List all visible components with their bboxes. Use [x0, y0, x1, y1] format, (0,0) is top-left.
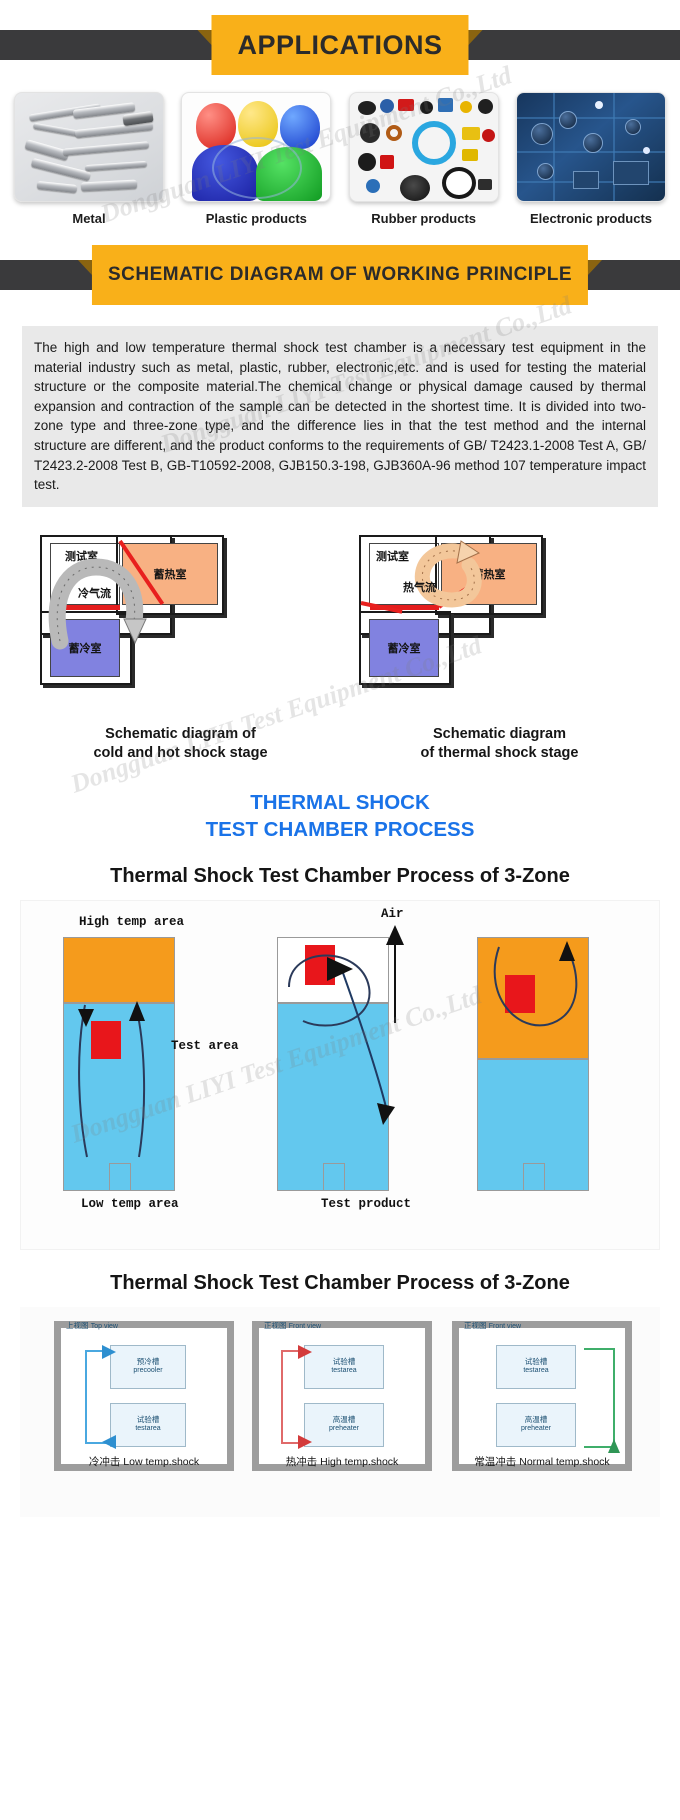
description-block: The high and low temperature thermal sho…: [22, 326, 658, 507]
mini-view-en-1: Top view: [91, 1323, 118, 1330]
schematic-ribbon: SCHEMATIC DIAGRAM OF WORKING PRINCIPLE: [92, 245, 588, 305]
application-card-rubber[interactable]: Rubber products: [349, 92, 499, 226]
high-temp-label: High temp area: [79, 915, 184, 929]
airflow-arrows-3: [471, 929, 601, 1089]
applications-title: APPLICATIONS: [237, 30, 442, 61]
process-heading-bottom: Thermal Shock Test Chamber Process of 3-…: [0, 1272, 680, 1295]
schematic-banner: SCHEMATIC DIAGRAM OF WORKING PRINCIPLE: [0, 242, 680, 308]
thermal-shock-diagram: 测试室 蓄热室 蓄冷室 热气流: [353, 529, 646, 719]
application-label: Rubber products: [349, 202, 499, 226]
application-label: Electronic products: [516, 202, 666, 226]
application-card-metal[interactable]: Metal: [14, 92, 164, 226]
circuit-board-image: [516, 92, 666, 202]
schematic-caption-right: Schematic diagram of thermal shock stage: [353, 725, 646, 763]
mini-diagram-high-temp-shock: 正视图 Front view 试验槽 testarea 高温槽 preheate…: [252, 1321, 432, 1471]
schematic-caption-left: Schematic diagram of cold and hot shock …: [34, 725, 327, 763]
mini-diagram-low-temp-shock: 上视图 Top view 预冷槽 precooler 试验槽 testarea …: [54, 1321, 234, 1471]
test-product-label: Test product: [321, 1197, 411, 1211]
mini-caption-3: 常温冲击 Normal temp.shock: [452, 1454, 632, 1469]
mini-arrow-1: [72, 1339, 132, 1459]
mini-arrow-3: [570, 1335, 640, 1465]
airflow-arrows-1: [61, 997, 181, 1197]
schematic-figure-thermal: 测试室 蓄热室 蓄冷室 热气流: [353, 529, 646, 763]
applications-ribbon: APPLICATIONS: [211, 15, 468, 75]
cold-airflow-arrow-left: [42, 545, 162, 675]
test-area-label: Test area: [171, 1039, 239, 1053]
mini-diagram-normal-temp-shock: 正视图 Front view 试验槽 testarea 高温槽 preheate…: [452, 1321, 632, 1471]
application-label: Metal: [14, 202, 164, 226]
mini-caption-1: 冷冲击 Low temp.shock: [54, 1454, 234, 1469]
low-temp-label: Low temp area: [81, 1197, 179, 1211]
mini-view-cn-2: 正视图: [264, 1321, 287, 1330]
product-detail-page: APPLICATIONS Metal: [0, 0, 680, 1537]
applications-grid: Metal Plastic products: [0, 78, 680, 226]
airflow-label-left: 冷气流: [78, 585, 111, 601]
mini-view-en-2: Front view: [289, 1323, 321, 1330]
mini-arrow-2: [268, 1339, 328, 1459]
mini-view-cn-3: 正视图: [464, 1321, 487, 1330]
high-temp-area-1: [63, 937, 175, 1003]
application-card-plastic[interactable]: Plastic products: [181, 92, 331, 226]
air-label: Air: [381, 907, 404, 921]
plastic-pellets-image: [181, 92, 331, 202]
cold-hot-shock-diagram: 测试室 蓄热室 蓄冷室 冷气流: [34, 529, 327, 719]
process-heading-top: Thermal Shock Test Chamber Process of 3-…: [0, 865, 680, 888]
schematic-figures: 测试室 蓄热室 蓄冷室 冷气流 Sc: [0, 529, 680, 763]
rubber-parts-image: [349, 92, 499, 202]
mini-caption-2: 热冲击 High temp.shock: [252, 1454, 432, 1469]
mini-view-cn-1: 上视图: [66, 1321, 89, 1330]
three-zone-mini-diagrams: 上视图 Top view 预冷槽 precooler 试验槽 testarea …: [20, 1307, 660, 1517]
application-card-electronic[interactable]: Electronic products: [516, 92, 666, 226]
process-title: THERMAL SHOCK TEST CHAMBER PROCESS: [0, 789, 680, 843]
metal-rods-image: [14, 92, 164, 202]
airflow-label-right: 热气流: [403, 579, 436, 595]
air-arrow: [381, 919, 441, 1029]
schematic-figure-cold-hot: 测试室 蓄热室 蓄冷室 冷气流 Sc: [34, 529, 327, 763]
schematic-title: SCHEMATIC DIAGRAM OF WORKING PRINCIPLE: [108, 264, 572, 286]
three-zone-process-diagram: High temp area Low temp area Test area T…: [20, 900, 660, 1250]
mini-view-en-3: Front view: [489, 1323, 521, 1330]
mini-room-bottom-3: 高温槽 preheater: [496, 1403, 576, 1447]
application-label: Plastic products: [181, 202, 331, 226]
applications-banner: APPLICATIONS: [0, 12, 680, 78]
description-paragraph: The high and low temperature thermal sho…: [34, 338, 646, 495]
mini-room-top-3: 试验槽 testarea: [496, 1345, 576, 1389]
